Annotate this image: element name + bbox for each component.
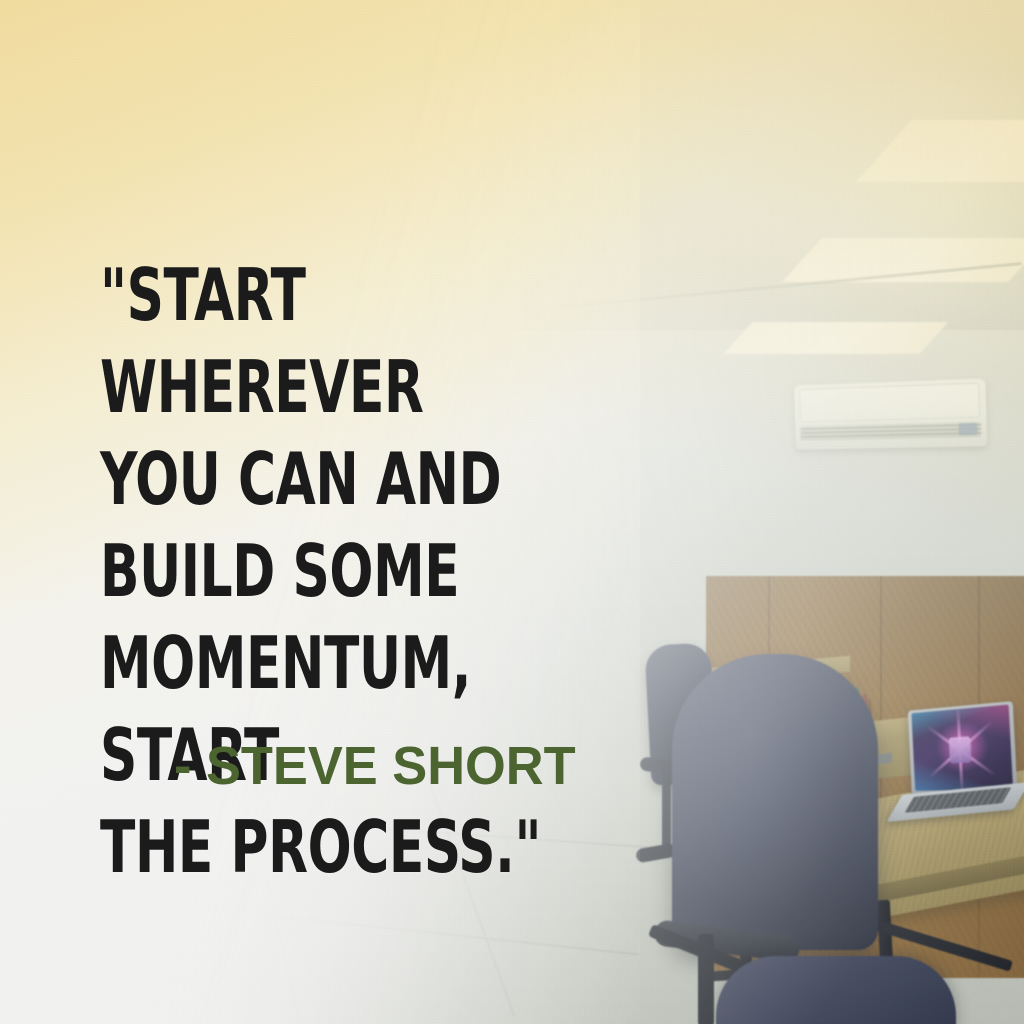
- text-layer: "START WHEREVER YOU CAN AND BUILD SOME M…: [0, 0, 1024, 1024]
- quote-card: "START WHEREVER YOU CAN AND BUILD SOME M…: [0, 0, 1024, 1024]
- quote-text: "START WHEREVER YOU CAN AND BUILD SOME M…: [100, 249, 596, 893]
- quote-attribution: - STEVE SHORT: [174, 736, 576, 796]
